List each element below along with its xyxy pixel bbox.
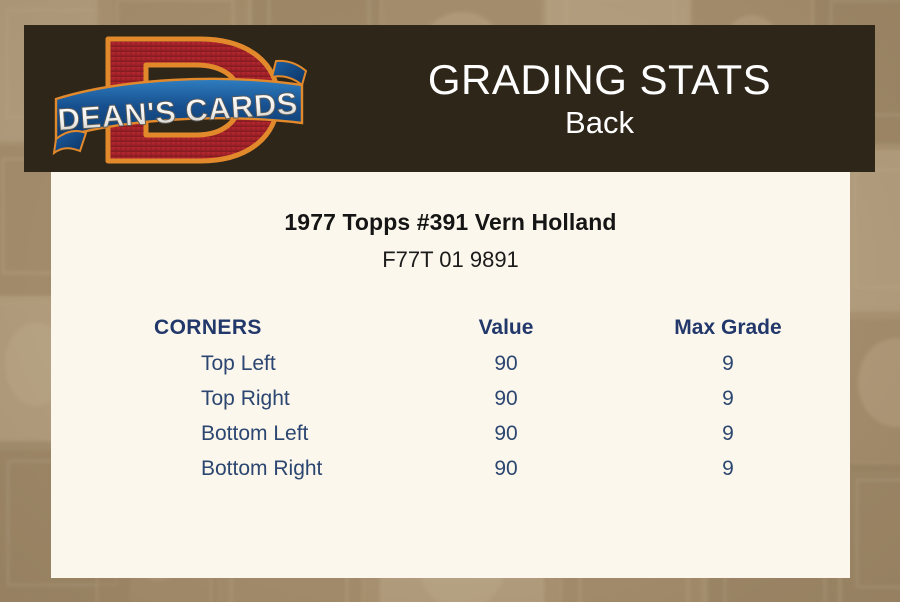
row-max-grade: 9 — [606, 346, 850, 381]
grading-stats-page: DEAN'S CARDS GRADING STATS Back 1977 Top… — [0, 0, 900, 602]
deans-cards-logo[interactable]: DEAN'S CARDS — [50, 27, 320, 172]
column-header-value: Value — [406, 310, 606, 346]
row-value: 90 — [406, 416, 606, 451]
row-max-grade: 9 — [606, 416, 850, 451]
page-title: GRADING STATS — [428, 57, 771, 102]
row-label: Top Right — [51, 381, 406, 416]
row-label: Top Left — [51, 346, 406, 381]
table-row: Top Left 90 9 — [51, 346, 850, 381]
card-serial: F77T 01 9891 — [51, 247, 850, 273]
row-value: 90 — [406, 451, 606, 486]
grading-stats-table: CORNERS Value Max Grade Top Left 90 9 To… — [51, 310, 850, 486]
page-header: DEAN'S CARDS GRADING STATS Back — [24, 25, 875, 172]
row-label: Bottom Left — [51, 416, 406, 451]
table-row: Bottom Right 90 9 — [51, 451, 850, 486]
row-value: 90 — [406, 381, 606, 416]
row-max-grade: 9 — [606, 451, 850, 486]
table-row: Bottom Left 90 9 — [51, 416, 850, 451]
row-max-grade: 9 — [606, 381, 850, 416]
header-title-group: GRADING STATS Back — [324, 25, 875, 172]
row-label: Bottom Right — [51, 451, 406, 486]
card-title: 1977 Topps #391 Vern Holland — [51, 209, 850, 236]
table-header-row: CORNERS Value Max Grade — [51, 310, 850, 346]
row-value: 90 — [406, 346, 606, 381]
table-row: Top Right 90 9 — [51, 381, 850, 416]
column-header-max-grade: Max Grade — [606, 310, 850, 346]
column-header-section: CORNERS — [51, 310, 406, 346]
content-panel: 1977 Topps #391 Vern Holland F77T 01 989… — [51, 172, 850, 578]
page-subtitle: Back — [565, 106, 634, 140]
table-body: Top Left 90 9 Top Right 90 9 Bottom Left… — [51, 346, 850, 486]
